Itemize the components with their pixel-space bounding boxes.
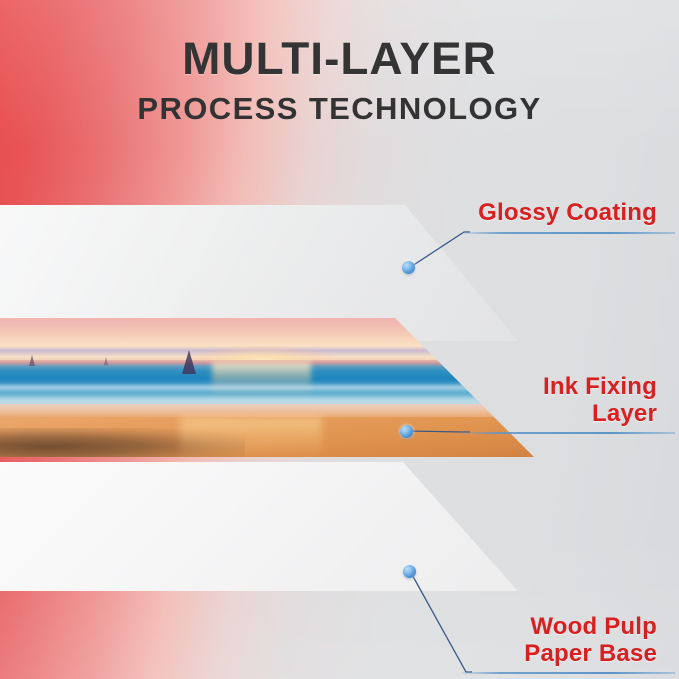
- callout-rule-glossy-coating: [462, 232, 675, 234]
- callout-rule-ink-fixing-layer: [462, 432, 675, 434]
- sailboat-icon: [104, 357, 108, 365]
- page-title: MULTI-LAYER PROCESS TECHNOLOGY: [0, 36, 679, 124]
- title-main: MULTI-LAYER: [0, 36, 679, 81]
- photo-sun-reflection: [212, 362, 310, 401]
- callout-dot-ink-fixing-layer[interactable]: [400, 425, 413, 438]
- photo-wave-foam-front: [0, 384, 540, 391]
- callout-label-glossy-coating: Glossy Coating: [478, 200, 657, 227]
- callout-rule-wood-pulp-paper-base: [462, 672, 675, 674]
- photo-wave-foam-back: [0, 397, 540, 403]
- callout-label-wood-pulp-paper-base: Wood Pulp Paper Base: [524, 614, 657, 668]
- callout-dot-glossy-coating[interactable]: [402, 261, 415, 274]
- layer-paper-base: [0, 462, 524, 593]
- title-subtitle: PROCESS TECHNOLOGY: [0, 93, 679, 124]
- callout-dot-wood-pulp-paper-base[interactable]: [403, 565, 416, 578]
- callout-label-ink-fixing-layer: Ink Fixing Layer: [543, 374, 657, 428]
- sailboat-icon: [29, 355, 35, 366]
- diagram-canvas: MULTI-LAYER PROCESS TECHNOLOGY: [0, 0, 679, 679]
- sailboat-icon: [182, 350, 196, 374]
- photo-sand-highlight: [180, 417, 322, 459]
